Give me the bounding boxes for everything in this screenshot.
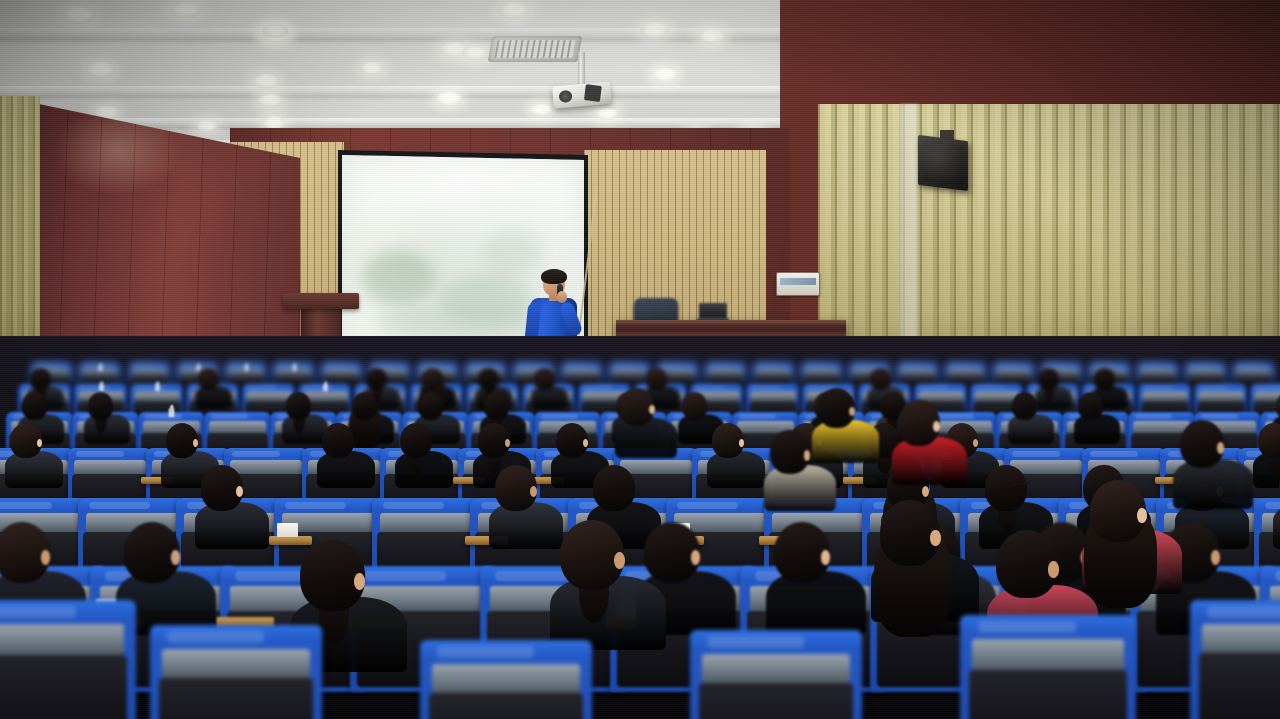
person-head (322, 423, 354, 458)
seat-highlight (1188, 363, 1212, 366)
seat-headrest-band (1142, 391, 1188, 400)
seat-headrest-band (134, 391, 180, 400)
seat-highlight (1199, 386, 1229, 390)
seat-highlight (0, 606, 76, 618)
audience-member-far-right (1180, 420, 1257, 508)
person-shoulders (892, 437, 968, 485)
person-ear (804, 450, 811, 461)
seat-highlight (919, 386, 949, 390)
person-ear (691, 550, 700, 565)
foreground-seat[interactable] (1190, 600, 1280, 719)
audience-member-ponytail (560, 520, 672, 648)
bottle-cap (294, 363, 296, 365)
seat-highlight (372, 363, 396, 366)
person-ear (236, 486, 243, 497)
eyeglasses-icon (499, 436, 512, 444)
seat-highlight (437, 646, 533, 658)
seat-back-pad (159, 678, 314, 719)
water-bottle-icon[interactable] (99, 363, 102, 371)
seat-headrest-band (131, 368, 168, 375)
seat-headrest-band (803, 368, 840, 375)
person-head (400, 423, 432, 458)
foreground-seat[interactable] (0, 600, 136, 719)
person-head (30, 368, 50, 390)
seat-highlight (383, 502, 444, 509)
seat-highlight (135, 386, 165, 390)
bottle-cap (100, 382, 102, 385)
bottle-cap (198, 363, 200, 365)
paper-sheet (277, 523, 298, 537)
seat-highlight (978, 621, 1077, 633)
seat-highlight (1044, 363, 1068, 366)
seat-highlight (708, 363, 732, 366)
audience-member (712, 423, 768, 487)
foreground-seat[interactable] (420, 640, 592, 719)
person-head (593, 465, 634, 510)
bottle-body (169, 408, 174, 417)
seat-headrest-band (947, 368, 984, 375)
bottle-cap (156, 382, 158, 385)
seat-highlight (1236, 363, 1260, 366)
seat-highlight (132, 363, 156, 366)
seat-highlight (82, 363, 106, 366)
person-head (682, 392, 708, 420)
seat-back-pad (969, 670, 1128, 719)
seat-highlight (468, 363, 492, 366)
seat-highlight (1265, 502, 1280, 509)
seat-highlight (739, 414, 777, 419)
seat-highlight (660, 363, 684, 366)
seat-highlight (76, 451, 123, 457)
bottle-body (323, 384, 327, 391)
person-head (352, 392, 378, 420)
seat-headrest-band (74, 460, 146, 475)
person-head (1038, 368, 1058, 390)
seat-headrest-band (1139, 368, 1176, 375)
seat-headrest-band (1202, 624, 1280, 654)
seat-highlight (541, 414, 579, 419)
person-head (1258, 423, 1280, 458)
audience-member (1258, 423, 1280, 487)
seat-highlight (285, 502, 346, 509)
audience-member (400, 423, 456, 487)
audience-member-dark-right (880, 500, 985, 620)
audience-member (322, 423, 378, 487)
seat-highlight (564, 363, 588, 366)
audience-member (10, 423, 66, 487)
seat-highlight (1135, 414, 1173, 419)
bottle-cap (324, 382, 326, 385)
seat-headrest-band (1187, 368, 1224, 375)
person-ear (41, 550, 50, 565)
seat-highlight (852, 363, 876, 366)
bottle-body (99, 384, 103, 391)
seat-highlight (247, 386, 277, 390)
audience-member-red-right (1090, 480, 1188, 592)
seat-highlight (804, 363, 828, 366)
seat-headrest-band (707, 368, 744, 375)
seat-highlight (1012, 451, 1059, 457)
seat-highlight (756, 363, 780, 366)
seat-highlight (1255, 386, 1280, 390)
person-ear (649, 405, 655, 414)
seat-headrest-band (611, 368, 648, 375)
person-shoulders (531, 386, 568, 409)
bottle-cap (100, 363, 102, 365)
seat-highlight (1092, 363, 1116, 366)
person-head (22, 392, 48, 420)
seat-highlight (695, 386, 725, 390)
water-bottle-icon[interactable] (169, 405, 174, 417)
bottle-body (293, 365, 296, 371)
audience-member-red-jacket (898, 400, 972, 484)
seat-highlight (145, 414, 183, 419)
eyeglasses-icon (212, 376, 221, 381)
seat-highlight (276, 363, 300, 366)
eyeglasses-icon (436, 376, 445, 381)
seat-back-pad (699, 683, 854, 719)
bottle-body (99, 365, 102, 371)
seat-back-pad (1199, 653, 1280, 719)
water-bottle-icon[interactable] (323, 382, 327, 391)
seat-highlight (583, 386, 613, 390)
person-head (478, 368, 498, 390)
seat-highlight (1207, 606, 1280, 618)
seat-headrest-band (750, 391, 796, 400)
water-bottle-icon[interactable] (245, 363, 248, 371)
audience-member-beige-vest (770, 430, 840, 510)
person-head (1094, 368, 1114, 390)
audience-member (198, 368, 234, 409)
audience-member (124, 522, 222, 634)
eyeglasses-icon (1013, 483, 1030, 494)
audience-member (1078, 392, 1123, 443)
water-bottle-icon[interactable] (99, 382, 103, 391)
water-bottle-icon[interactable] (293, 363, 296, 371)
seat-highlight (228, 363, 252, 366)
seat-back-pad (0, 655, 127, 719)
person-head (286, 392, 312, 420)
seat-highlight (677, 502, 738, 509)
seat-highlight (612, 363, 636, 366)
seat-highlight (324, 363, 348, 366)
person-head (534, 368, 554, 390)
seat-headrest-band (0, 624, 124, 654)
person-head (1012, 392, 1038, 420)
seat-highlight (34, 363, 58, 366)
seat-headrest-band (380, 513, 473, 532)
audience-member (1012, 392, 1057, 443)
seat-highlight (1201, 414, 1239, 419)
eyeglasses-icon (733, 436, 746, 444)
seat-highlight (1143, 386, 1173, 390)
seat-highlight (232, 451, 279, 457)
person-head (88, 392, 114, 420)
seat-highlight (1140, 363, 1164, 366)
audience-member (495, 465, 567, 548)
person-ear (1137, 508, 1147, 523)
person-ear (930, 530, 940, 546)
seat-highlight (1275, 571, 1280, 581)
water-bottle-icon[interactable] (155, 382, 159, 391)
seat-back-pad (429, 693, 584, 719)
audience-members (0, 0, 1280, 719)
bottle-cap (246, 363, 248, 365)
seat-headrest-band (162, 649, 310, 679)
person-ear (171, 550, 180, 565)
eyeglasses-icon (187, 436, 200, 444)
person-ear (922, 486, 929, 497)
seat-highlight (975, 386, 1005, 390)
seat-highlight (900, 363, 924, 366)
seat-highlight (420, 363, 444, 366)
auditorium-photo (0, 0, 1280, 719)
seat-headrest-band (323, 368, 360, 375)
seat-headrest-band (972, 639, 1124, 669)
person-head (646, 368, 666, 390)
bottle-body (245, 365, 248, 371)
person-ear (821, 550, 830, 565)
person-head (870, 368, 890, 390)
person-ear (1211, 550, 1220, 565)
bottle-body (155, 384, 159, 391)
seat-highlight (751, 386, 781, 390)
seat-highlight (167, 631, 263, 643)
eyeglasses-icon (1095, 402, 1106, 409)
seat-headrest-band (1198, 391, 1244, 400)
seat-highlight (516, 363, 540, 366)
person-head (484, 392, 510, 420)
seat-highlight (948, 363, 972, 366)
person-ear (1048, 561, 1059, 577)
seat-highlight (1090, 451, 1137, 457)
person-head (418, 392, 444, 420)
person-head (1276, 392, 1280, 420)
seat-highlight (180, 363, 204, 366)
seat-headrest-band (1235, 368, 1272, 375)
audience-member (774, 522, 872, 634)
seat-highlight (303, 386, 333, 390)
foreground-seat[interactable] (960, 615, 1136, 719)
seat-headrest-band (702, 654, 850, 684)
eyeglasses-icon (1209, 438, 1228, 450)
foreground-seat[interactable] (150, 625, 322, 719)
seat-highlight (211, 414, 249, 419)
seat-highlight (79, 386, 109, 390)
person-ear (614, 552, 625, 569)
seat-headrest-band (995, 368, 1032, 375)
bottle-cap (170, 405, 173, 409)
audience-member (534, 368, 570, 409)
seat-headrest-band (755, 368, 792, 375)
person-head (366, 368, 386, 390)
seat-headrest-band (432, 664, 580, 694)
seat-highlight (707, 636, 803, 648)
audience-member-mid (620, 388, 680, 457)
person-ear (530, 486, 537, 497)
seat-highlight (0, 502, 52, 509)
foreground-seat[interactable] (690, 630, 862, 719)
seat-highlight (996, 363, 1020, 366)
person-shoulders (195, 386, 232, 409)
audience-member (88, 392, 133, 443)
seat-highlight (89, 502, 150, 509)
